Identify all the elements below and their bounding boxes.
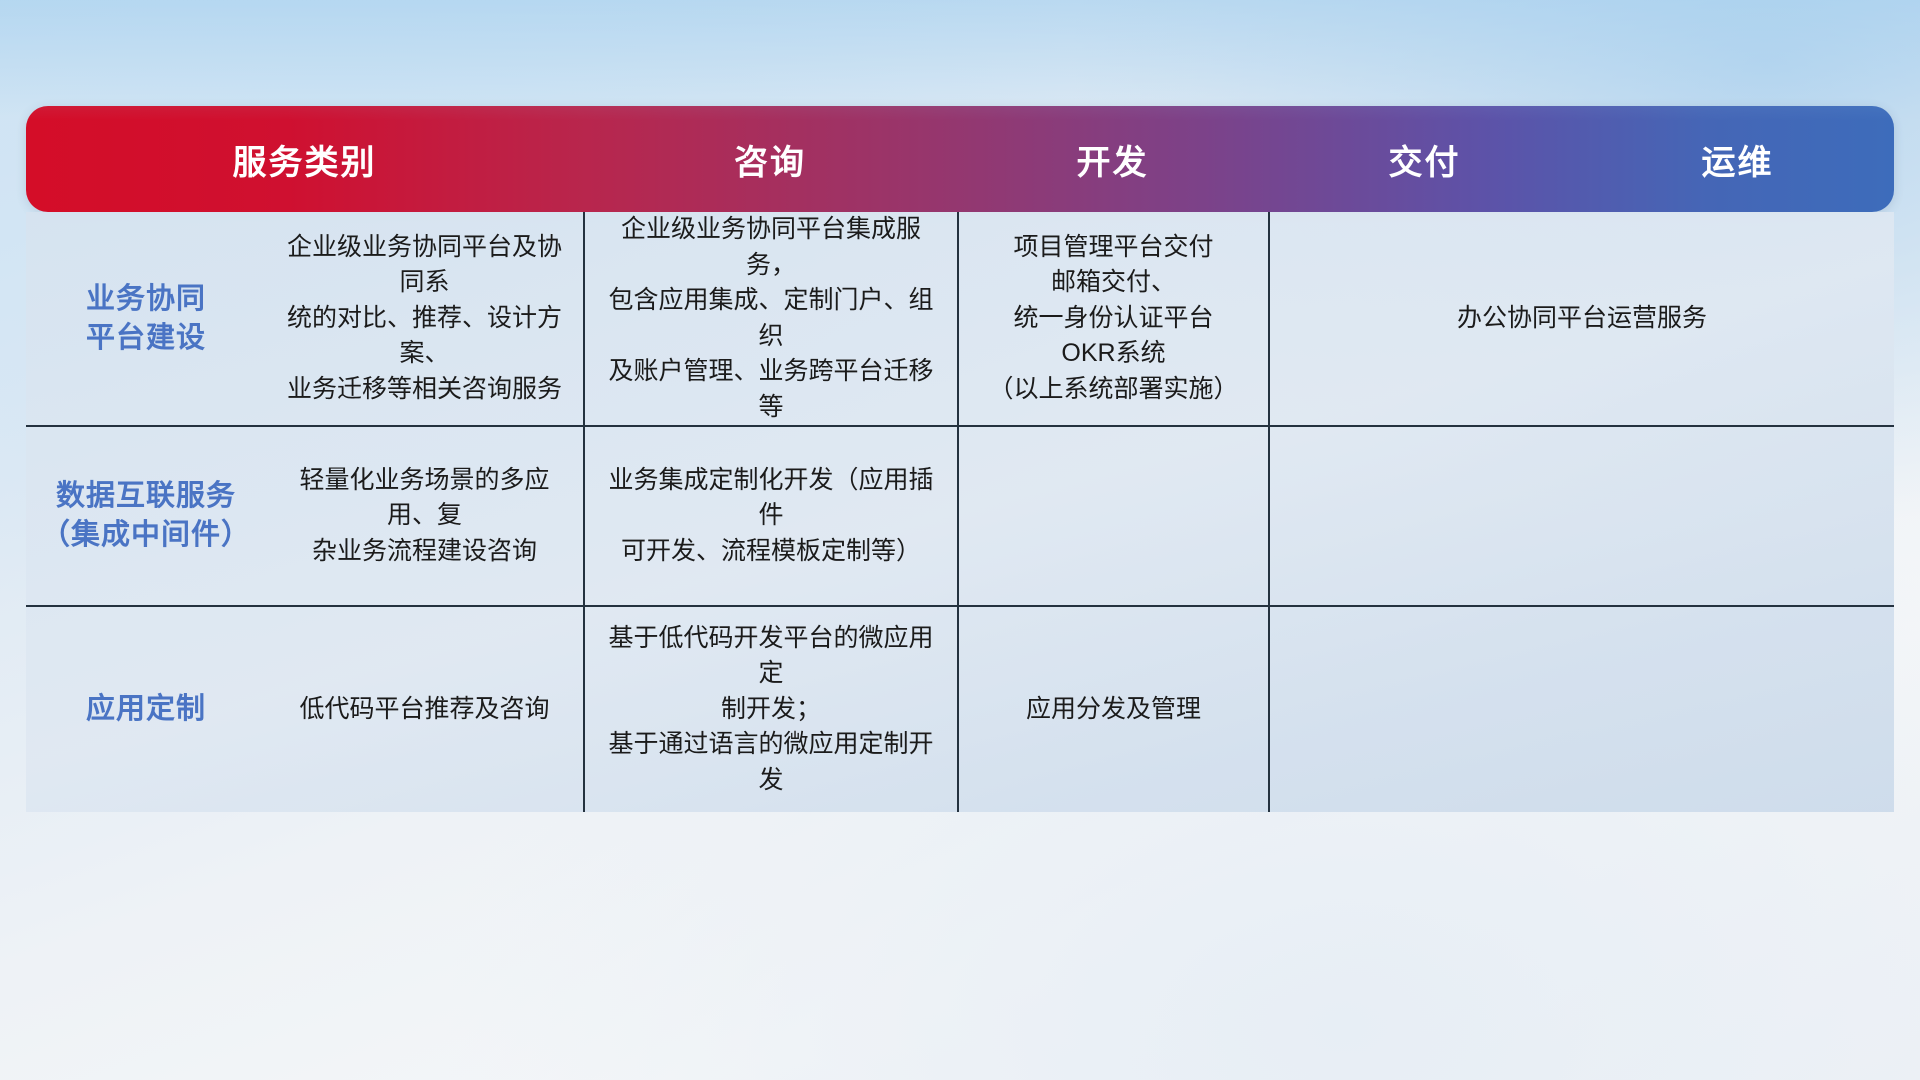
table-row: 应用定制 低代码平台推荐及咨询 基于低代码开发平台的微应用定 制开发； 基于通过… [26,605,1894,812]
table-header-row: 服务类别 咨询 开发 交付 运维 [26,106,1894,212]
cell-delivery [957,427,1268,605]
row-category-label: 应用定制 [86,690,206,729]
table-header-label-category: 服务类别 [166,135,444,184]
cell-consulting: 轻量化业务场景的多应用、复 杂业务流程建设咨询 [266,427,583,605]
slide-canvas: 服务类别 咨询 开发 交付 运维 业务协同 平台建设 企业级业务协同平台及协同系… [0,0,1920,1080]
service-matrix-table: 服务类别 咨询 开发 交付 运维 业务协同 平台建设 企业级业务协同平台及协同系… [26,106,1894,954]
cell-delivery: 应用分发及管理 [957,607,1268,812]
cell-consulting: 低代码平台推荐及咨询 [266,607,583,812]
cell-development: 业务集成定制化开发（应用插件 可开发、流程模板定制等） [583,427,957,605]
row-category-cell: 业务协同 平台建设 [26,212,266,425]
table-header-label-development: 开发 [1077,135,1149,184]
row-category-cell: 数据互联服务 （集成中间件） [26,427,266,605]
cell-development: 企业级业务协同平台集成服务， 包含应用集成、定制门户、组织 及账户管理、业务跨平… [583,212,957,425]
row-category-label: 业务协同 平台建设 [86,280,206,358]
table-header-label-delivery: 交付 [1268,135,1581,184]
table-header-label-operations: 运维 [1581,135,1894,184]
cell-operations [1268,607,1894,812]
row-category-label: 数据互联服务 （集成中间件） [41,477,251,555]
table-body: 业务协同 平台建设 企业级业务协同平台及协同系 统的对比、推荐、设计方案、 业务… [26,212,1894,812]
table-header-cell-delivery-operations: 交付 运维 [1268,135,1894,184]
table-header-label-consulting: 咨询 [734,135,806,184]
table-row: 数据互联服务 （集成中间件） 轻量化业务场景的多应用、复 杂业务流程建设咨询 业… [26,425,1894,605]
cell-consulting: 企业级业务协同平台及协同系 统的对比、推荐、设计方案、 业务迁移等相关咨询服务 [266,212,583,425]
table-header-cell-category: 服务类别 [26,135,583,184]
table-header-cell-development: 开发 [957,135,1268,184]
cell-operations: 办公协同平台运营服务 [1268,212,1894,425]
table-header-cell-consulting: 咨询 [583,135,957,184]
cell-delivery: 项目管理平台交付 邮箱交付、 统一身份认证平台 OKR系统 （以上系统部署实施） [957,212,1268,425]
cell-development: 基于低代码开发平台的微应用定 制开发； 基于通过语言的微应用定制开发 [583,607,957,812]
row-category-cell: 应用定制 [26,607,266,812]
cell-operations [1268,427,1894,605]
table-row: 业务协同 平台建设 企业级业务协同平台及协同系 统的对比、推荐、设计方案、 业务… [26,212,1894,425]
